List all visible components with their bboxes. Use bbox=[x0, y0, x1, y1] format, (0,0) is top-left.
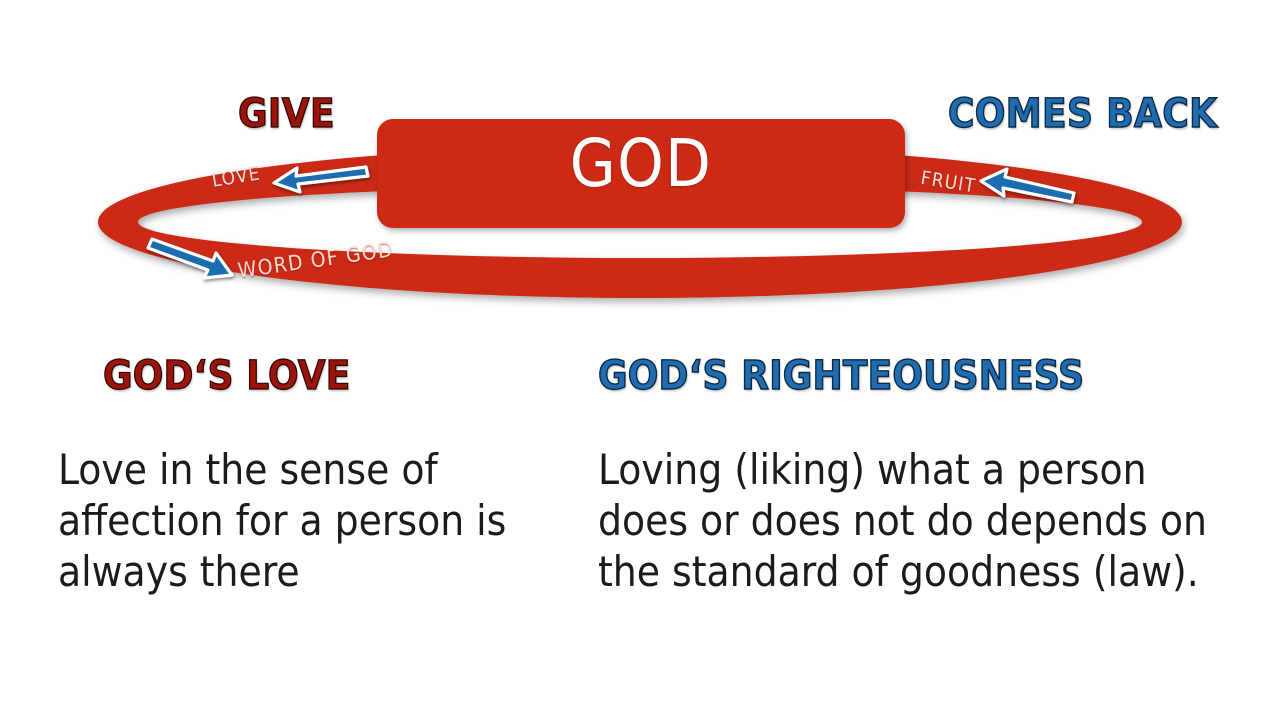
body-gods-righteousness: Loving (liking) what a person does or do… bbox=[598, 444, 1248, 598]
explanation-columns: GOD‘S LOVE Love in the sense of affectio… bbox=[0, 340, 1280, 720]
heading-gods-love: GOD‘S LOVE bbox=[103, 356, 540, 396]
god-label: GOD bbox=[377, 131, 905, 197]
slide-canvas: LOVE WORD OF GOD FRUIT GOD GIVE COMES BA… bbox=[0, 0, 1280, 720]
heading-gods-righteousness: GOD‘S RIGHTEOUSNESS bbox=[598, 356, 1280, 396]
body-gods-love: Love in the sense of affection for a per… bbox=[58, 444, 528, 598]
callout-comes-back: COMES BACK bbox=[948, 94, 1217, 134]
cycle-diagram: LOVE WORD OF GOD FRUIT GOD GIVE COMES BA… bbox=[0, 0, 1280, 330]
callout-give: GIVE bbox=[238, 94, 335, 134]
column-gods-love: GOD‘S LOVE Love in the sense of affectio… bbox=[0, 340, 540, 720]
god-center-box: GOD bbox=[377, 119, 905, 228]
column-gods-righteousness: GOD‘S RIGHTEOUSNESS Loving (liking) what… bbox=[540, 340, 1280, 720]
